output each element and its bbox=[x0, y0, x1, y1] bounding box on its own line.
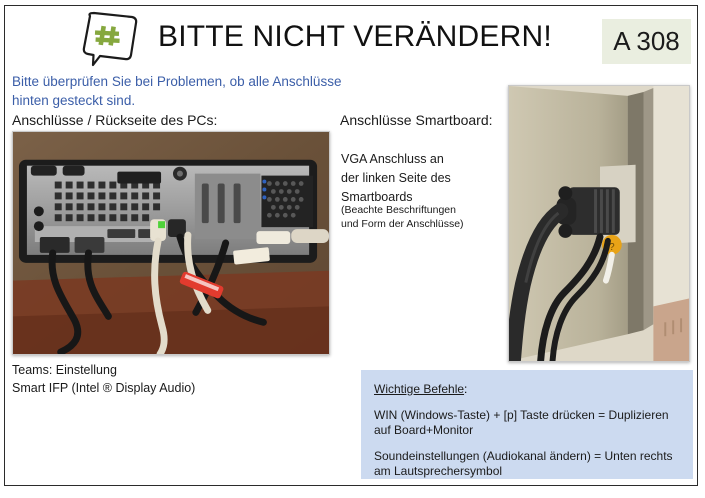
command-item-duplicate-display: WIN (Windows-Taste) + [p] Taste drücken … bbox=[374, 408, 684, 438]
important-commands-box: Wichtige Befehle: WIN (Windows-Taste) + … bbox=[361, 370, 693, 479]
important-commands-heading: Wichtige Befehle bbox=[374, 382, 464, 396]
important-commands-content: Wichtige Befehle: WIN (Windows-Taste) + … bbox=[374, 380, 684, 490]
page-title: BITTE NICHT VERÄNDERN! bbox=[158, 20, 588, 54]
caption-pc-connections: Anschlüsse / Rückseite des PCs: bbox=[12, 112, 217, 128]
pc-rear-panel-photo bbox=[12, 131, 330, 355]
command-item-sound-settings: Soundeinstellungen (Audiokanal ändern) =… bbox=[374, 449, 684, 479]
room-number-badge: A 308 bbox=[602, 19, 691, 64]
command-2-line-1: Soundeinstellungen (Audiokanal ändern) =… bbox=[374, 449, 684, 464]
important-commands-heading-row: Wichtige Befehle: bbox=[374, 380, 684, 408]
teams-label-line-1: Teams: Einstellung bbox=[12, 361, 312, 379]
teams-label-line-2: Smart IFP (Intel ® Display Audio) bbox=[12, 379, 312, 397]
smartboard-desc-line-1: VGA Anschluss an bbox=[341, 150, 506, 169]
smartboard-note: (Beachte Beschriftungen und Form der Ans… bbox=[341, 203, 511, 231]
intro-line-2: hinten gesteckt sind. bbox=[12, 91, 402, 110]
poster-page: BITTE NICHT VERÄNDERN! A 308 Bitte überp… bbox=[0, 0, 705, 498]
smartboard-note-line-2: und Form der Anschlüsse) bbox=[341, 217, 511, 231]
caption-smartboard-connections: Anschlüsse Smartboard: bbox=[340, 112, 493, 128]
command-1-line-1: WIN (Windows-Taste) + [p] Taste drücken … bbox=[374, 408, 684, 423]
intro-text: Bitte überprüfen Sie bei Problemen, ob a… bbox=[12, 72, 402, 110]
intro-line-1: Bitte überprüfen Sie bei Problemen, ob a… bbox=[12, 72, 402, 91]
teams-settings-label: Teams: Einstellung Smart IFP (Intel ® Di… bbox=[12, 361, 312, 397]
smartboard-vga-connector-photo: ? bbox=[508, 85, 690, 362]
command-2-line-2: am Lautsprechersymbol bbox=[374, 464, 684, 479]
smartboard-description: VGA Anschluss an der linken Seite des Sm… bbox=[341, 150, 506, 207]
smartboard-note-line-1: (Beachte Beschriftungen bbox=[341, 203, 511, 217]
smartboard-desc-line-2: der linken Seite des bbox=[341, 169, 506, 188]
important-commands-heading-colon: : bbox=[464, 382, 467, 396]
command-1-line-2: auf Board+Monitor bbox=[374, 423, 684, 438]
speech-bubble-hashtag-icon bbox=[78, 10, 142, 68]
